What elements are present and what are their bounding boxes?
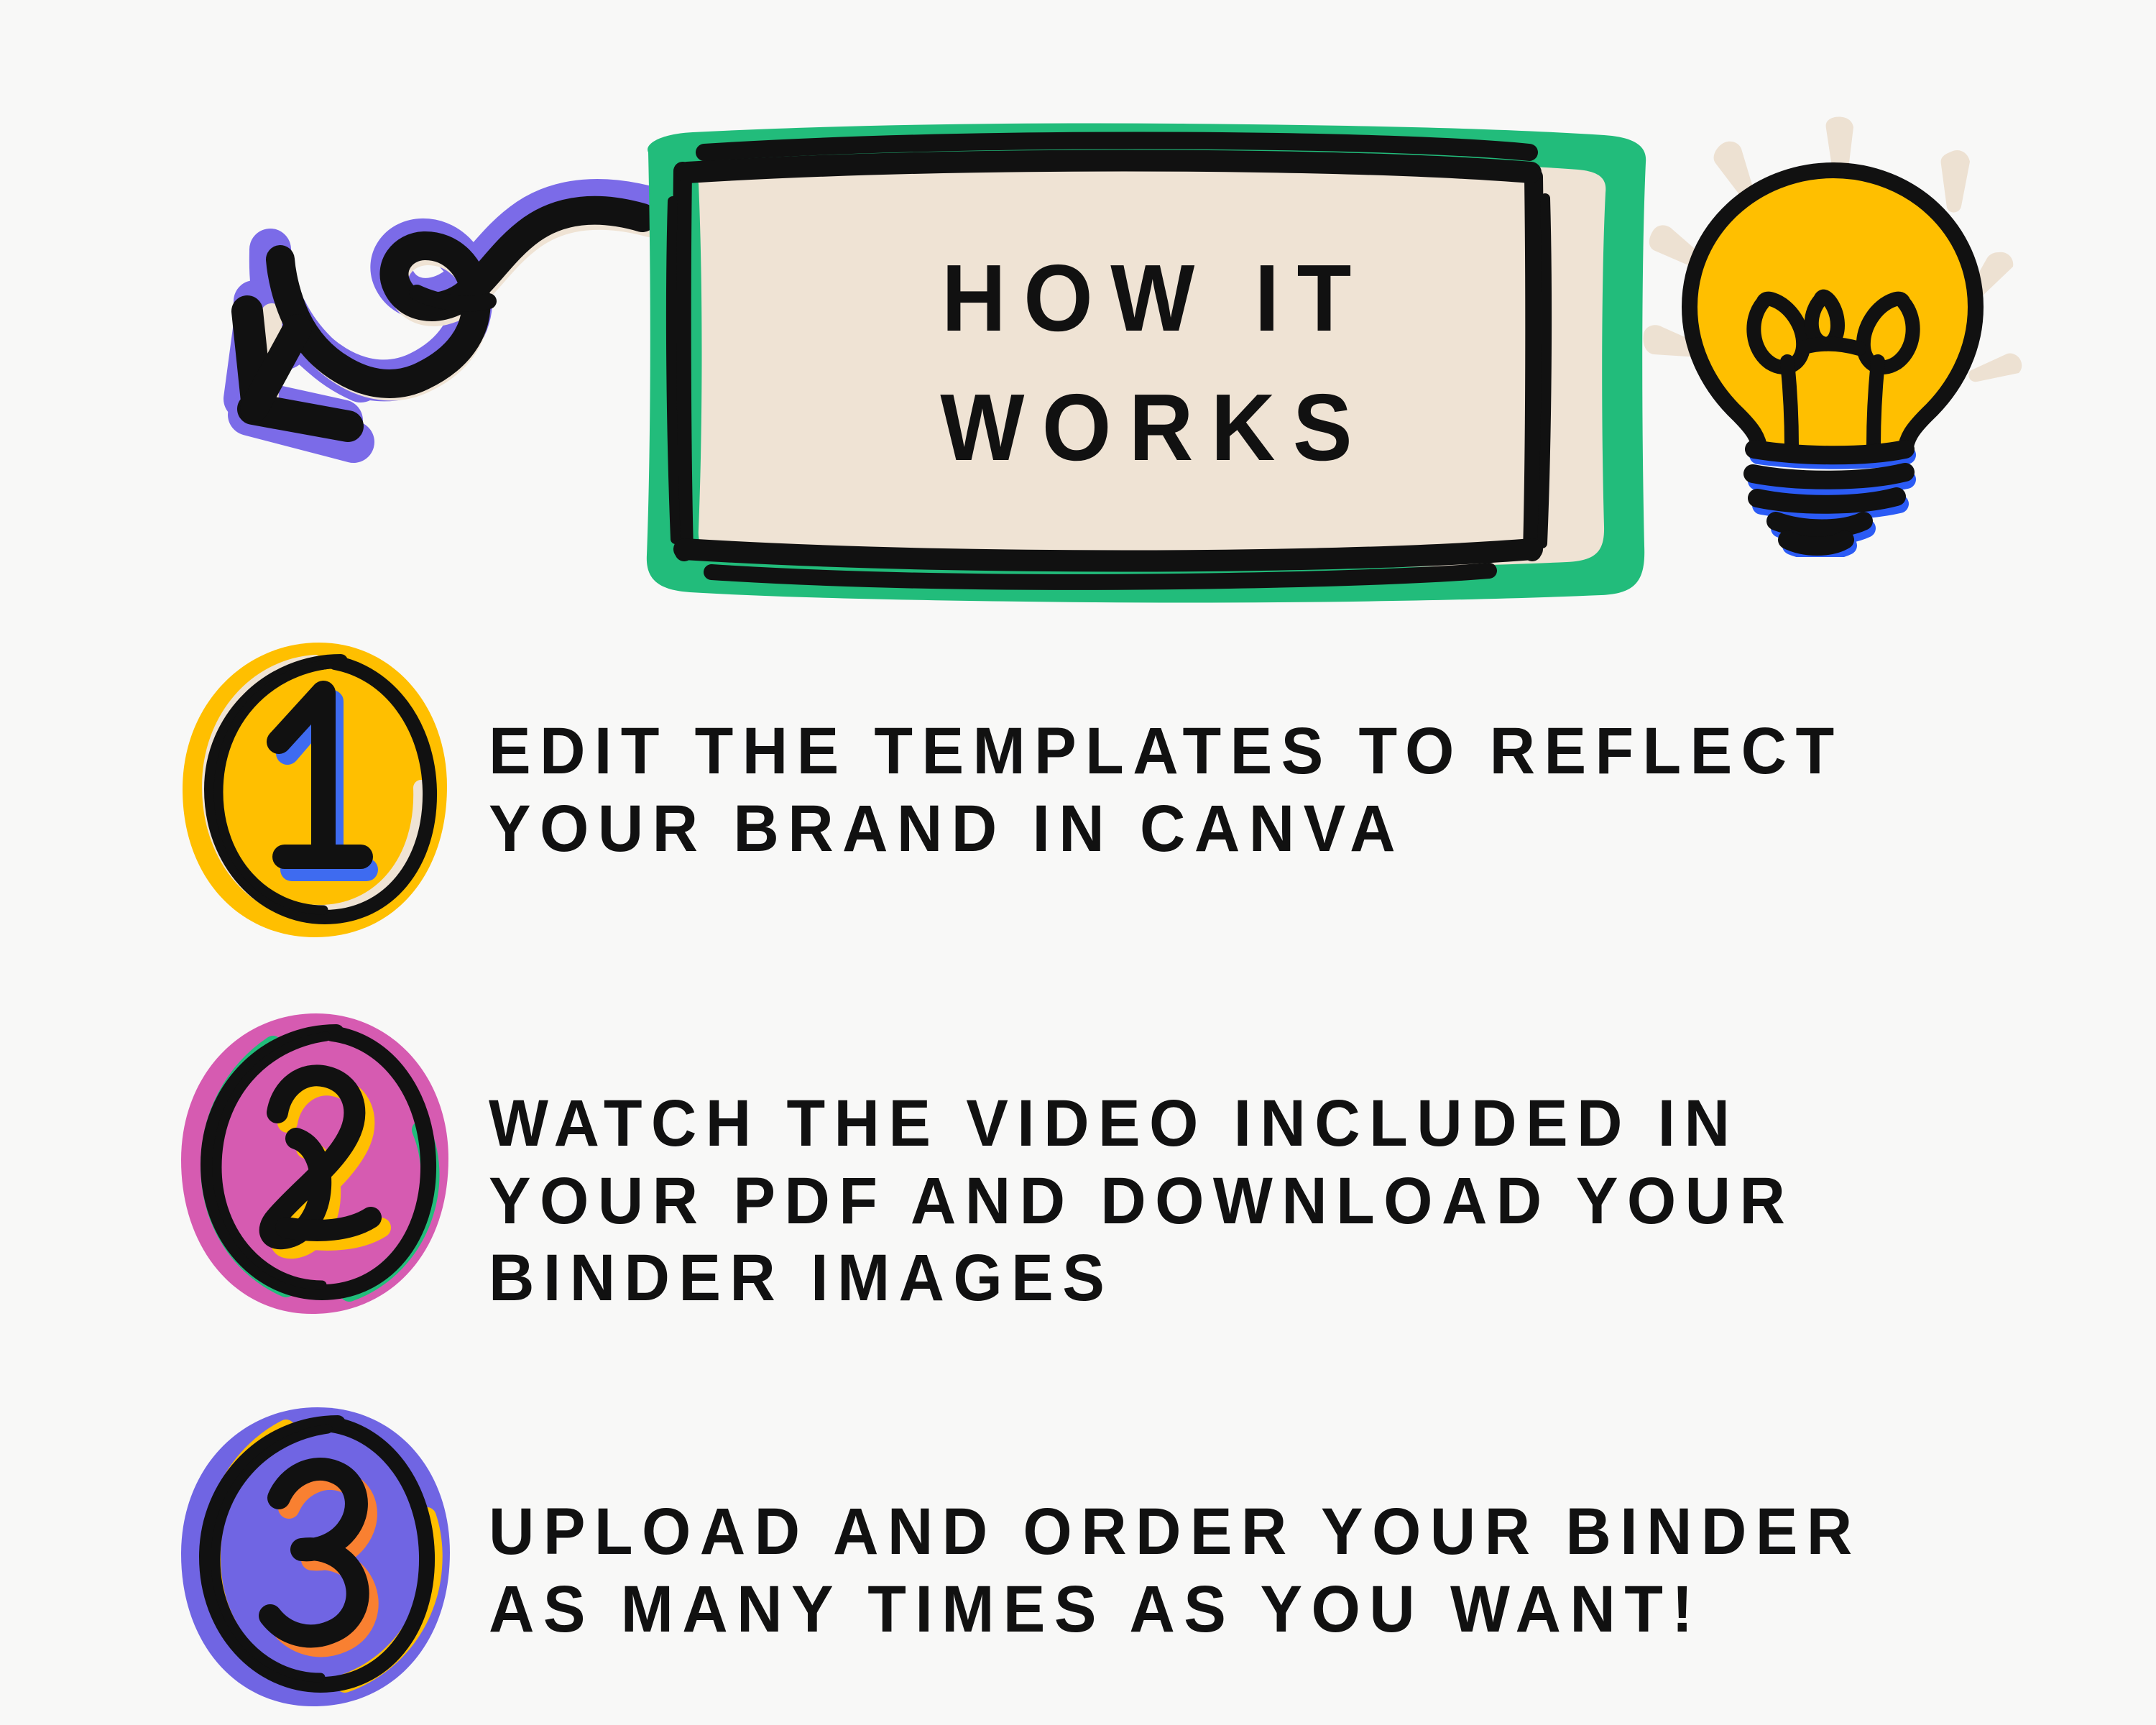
step-description: WATCH THE VIDEO INCLUDED IN YOUR PDF AND…	[489, 1085, 1794, 1317]
steps-list: EDIT THE TEMPLATES TO REFLECT YOUR BRAND…	[0, 632, 2156, 1725]
step-row: WATCH THE VIDEO INCLUDED IN YOUR PDF AND…	[0, 1006, 2156, 1366]
step-description: EDIT THE TEMPLATES TO REFLECT YOUR BRAND…	[489, 713, 1843, 868]
step-row: EDIT THE TEMPLATES TO REFLECT YOUR BRAND…	[0, 632, 2156, 977]
step-badge-3-icon	[165, 1402, 467, 1718]
step-description: UPLOAD AND ORDER YOUR BINDER AS MANY TIM…	[489, 1494, 1861, 1648]
lightbulb-idea-icon	[1621, 97, 2045, 557]
curly-arrow-down-left-icon	[201, 126, 661, 586]
step-badge-1-icon	[165, 632, 467, 949]
step-row: UPLOAD AND ORDER YOUR BINDER AS MANY TIM…	[0, 1402, 2156, 1725]
header-section: HOW IT WORKS	[0, 0, 2156, 632]
step-badge-2-icon	[165, 1006, 467, 1322]
infographic-canvas: HOW IT WORKS	[0, 0, 2156, 1725]
title-frame: HOW IT WORKS	[632, 115, 1660, 611]
